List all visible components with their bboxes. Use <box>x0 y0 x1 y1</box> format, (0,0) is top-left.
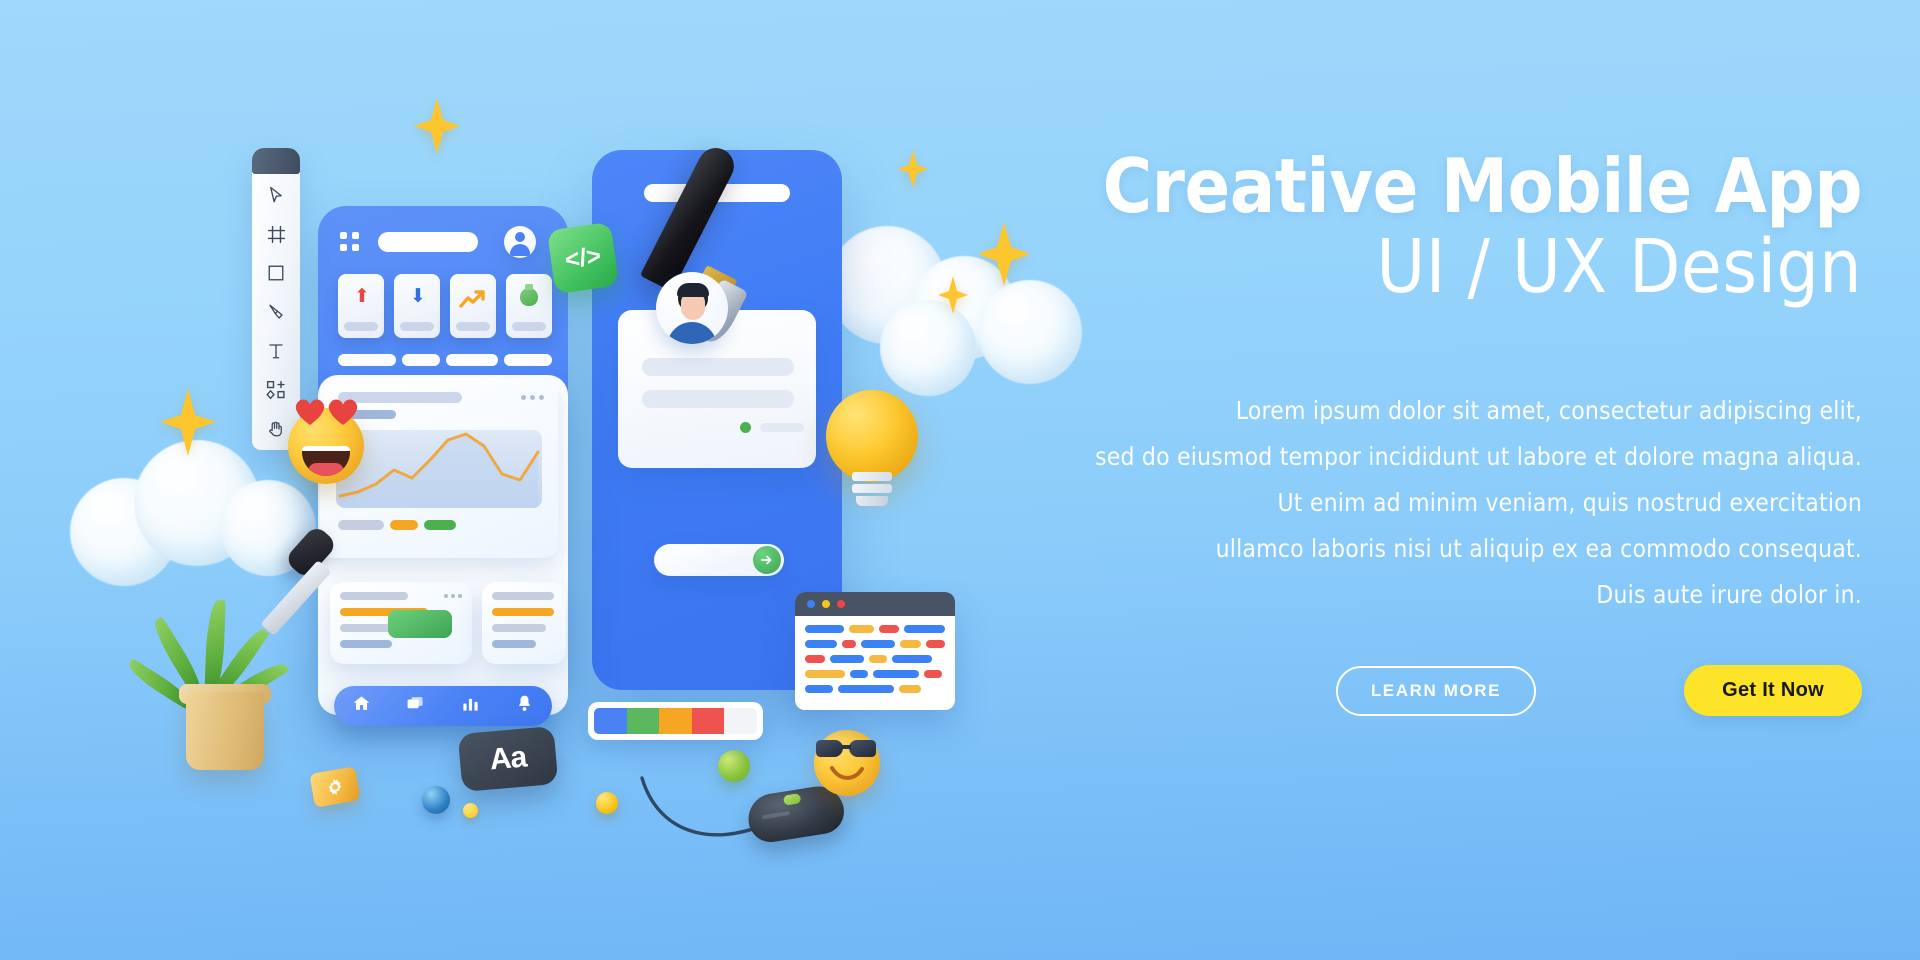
chart-plot <box>336 430 542 508</box>
code-token <box>849 625 874 633</box>
code-editor-titlebar <box>795 592 955 616</box>
code-token <box>879 625 899 633</box>
code-token <box>861 640 895 648</box>
marble-yellow-small <box>463 803 478 818</box>
code-token <box>869 655 887 663</box>
code-editor-window <box>795 592 955 710</box>
filter-pill[interactable] <box>338 354 396 366</box>
components-tool-icon[interactable] <box>265 379 287 401</box>
filter-pill[interactable] <box>446 354 498 366</box>
color-swatch[interactable] <box>594 708 627 734</box>
page-title: Creative Mobile App <box>1072 150 1862 224</box>
pen-tool-icon[interactable] <box>265 301 287 323</box>
hand-tool-icon[interactable] <box>265 418 287 440</box>
gear-icon <box>309 766 360 807</box>
stat-card[interactable] <box>506 274 552 338</box>
sparkle-icon <box>938 276 968 314</box>
hero-copy: Creative Mobile App UI / UX Design Lorem… <box>1072 150 1862 716</box>
cta-group: LEARN MORE Get It Now <box>1072 665 1862 716</box>
toolbar-cap <box>252 148 300 174</box>
stat-card[interactable] <box>450 274 496 338</box>
marble-blue <box>422 786 450 814</box>
code-token <box>805 670 845 678</box>
aa-chip-label: Aa <box>488 740 527 777</box>
plant-pot <box>186 692 264 770</box>
code-token <box>830 655 864 663</box>
code-token <box>900 640 921 648</box>
card-line-short <box>760 423 804 432</box>
color-palette[interactable] <box>588 702 763 740</box>
list-card-right <box>482 582 566 664</box>
chart-tag <box>390 520 418 530</box>
code-lines <box>795 616 955 702</box>
avatar[interactable] <box>504 226 536 258</box>
code-token <box>842 640 855 648</box>
frame-tool-icon[interactable] <box>265 223 287 245</box>
card-menu-icon[interactable] <box>521 395 544 400</box>
code-badge-label: </> <box>563 241 603 275</box>
code-line <box>805 655 945 663</box>
bottom-nav-bar[interactable] <box>334 686 552 726</box>
rectangle-tool-icon[interactable] <box>265 262 287 284</box>
code-line <box>805 625 945 633</box>
code-line <box>805 640 945 648</box>
color-swatch[interactable] <box>659 708 692 734</box>
submit-pill[interactable] <box>654 544 784 576</box>
hero-body-line: ullamco laboris nisi ut aliquip ex ea co… <box>1072 526 1862 572</box>
code-badge: </> <box>547 222 619 294</box>
stat-card[interactable]: ⬆ <box>338 274 384 338</box>
code-token <box>805 685 833 693</box>
grid-menu-icon[interactable] <box>340 232 360 252</box>
chart-icon[interactable] <box>461 694 480 718</box>
cursor-tool-icon[interactable] <box>265 184 287 206</box>
cards-icon[interactable] <box>406 694 425 718</box>
window-dot-yellow[interactable] <box>822 600 830 608</box>
sparkle-icon <box>414 98 460 154</box>
filter-pill[interactable] <box>402 354 440 366</box>
card-menu-icon[interactable] <box>444 594 462 598</box>
window-dot-blue[interactable] <box>807 600 815 608</box>
hero-body-line: Duis aute irure dolor in. <box>1072 572 1862 618</box>
code-token <box>926 640 945 648</box>
code-token <box>805 625 844 633</box>
card-line <box>642 390 794 408</box>
sparkle-icon <box>898 150 928 188</box>
color-swatch[interactable] <box>627 708 660 734</box>
avatar-large <box>656 272 728 344</box>
window-dot-red[interactable] <box>837 600 845 608</box>
code-line <box>805 685 945 693</box>
code-token <box>924 670 942 678</box>
status-dot <box>740 422 751 433</box>
chart-tag <box>338 520 384 530</box>
color-swatch[interactable] <box>724 708 757 734</box>
card-line <box>642 358 794 376</box>
sparkle-icon <box>978 222 1030 286</box>
chart-tag <box>424 520 456 530</box>
heart-eyes-emoji <box>288 408 364 484</box>
marble-yellow <box>596 792 618 814</box>
code-token <box>838 685 894 693</box>
code-token <box>904 625 945 633</box>
code-token <box>899 685 921 693</box>
page-subtitle: UI / UX Design <box>1072 226 1862 309</box>
stat-card[interactable]: ⬇ <box>394 274 440 338</box>
code-token <box>850 670 868 678</box>
color-swatch[interactable] <box>692 708 725 734</box>
eyedropper-paint <box>388 610 452 638</box>
filter-pill[interactable] <box>504 354 552 366</box>
bell-icon[interactable] <box>515 694 534 718</box>
text-tool-icon[interactable] <box>265 340 287 362</box>
hero-body-line: Lorem ipsum dolor sit amet, consectetur … <box>1072 388 1862 434</box>
hero-banner: ⬆ ⬇ <box>0 0 1920 960</box>
code-line <box>805 670 945 678</box>
code-token <box>805 640 837 648</box>
home-icon[interactable] <box>352 694 371 718</box>
code-token <box>873 670 919 678</box>
get-it-now-button[interactable]: Get It Now <box>1684 665 1862 716</box>
hero-body-line: Ut enim ad minim veniam, quis nostrud ex… <box>1072 480 1862 526</box>
code-token <box>805 655 825 663</box>
typography-chip: Aa <box>458 726 559 792</box>
search-input[interactable] <box>378 232 478 252</box>
learn-more-button[interactable]: LEARN MORE <box>1336 666 1536 716</box>
hero-body-line: sed do eiusmod tempor incididunt ut labo… <box>1072 434 1862 480</box>
sparkle-icon <box>160 388 216 456</box>
sunglasses-emoji <box>814 730 880 796</box>
hero-body-text: Lorem ipsum dolor sit amet, consectetur … <box>1072 388 1862 617</box>
arrow-right-icon[interactable] <box>753 546 781 574</box>
code-token <box>892 655 932 663</box>
